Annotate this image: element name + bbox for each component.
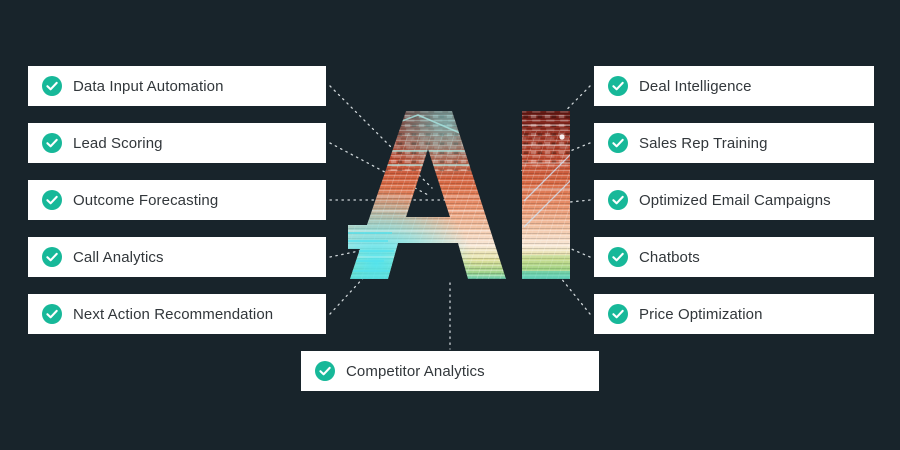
check-circle-icon [608,133,628,153]
feature-label: Chatbots [639,250,700,265]
ai-wordmark [348,105,580,285]
feature-card-data-input-automation[interactable]: Data Input Automation [28,66,326,106]
feature-card-outcome-forecasting[interactable]: Outcome Forecasting [28,180,326,220]
feature-label: Optimized Email Campaigns [639,193,831,208]
feature-label: Call Analytics [73,250,164,265]
check-circle-icon [42,247,62,267]
check-circle-icon [42,133,62,153]
check-circle-icon [42,304,62,324]
feature-label: Deal Intelligence [639,79,752,94]
check-circle-icon [608,190,628,210]
check-circle-icon [608,247,628,267]
check-circle-icon [42,190,62,210]
feature-card-optimized-email-campaigns[interactable]: Optimized Email Campaigns [594,180,874,220]
feature-card-next-action-recommendation[interactable]: Next Action Recommendation [28,294,326,334]
feature-label: Outcome Forecasting [73,193,218,208]
feature-card-deal-intelligence[interactable]: Deal Intelligence [594,66,874,106]
check-circle-icon [42,76,62,96]
feature-card-sales-rep-training[interactable]: Sales Rep Training [594,123,874,163]
feature-label: Next Action Recommendation [73,307,273,322]
feature-label: Sales Rep Training [639,136,768,151]
feature-label: Price Optimization [639,307,763,322]
feature-label: Competitor Analytics [346,364,485,379]
feature-label: Data Input Automation [73,79,224,94]
feature-card-lead-scoring[interactable]: Lead Scoring [28,123,326,163]
feature-label: Lead Scoring [73,136,163,151]
check-circle-icon [315,361,335,381]
feature-card-competitor-analytics[interactable]: Competitor Analytics [301,351,599,391]
feature-card-chatbots[interactable]: Chatbots [594,237,874,277]
check-circle-icon [608,76,628,96]
feature-card-call-analytics[interactable]: Call Analytics [28,237,326,277]
infographic-canvas: Data Input Automation Lead Scoring Outco… [0,0,900,450]
feature-card-price-optimization[interactable]: Price Optimization [594,294,874,334]
check-circle-icon [608,304,628,324]
